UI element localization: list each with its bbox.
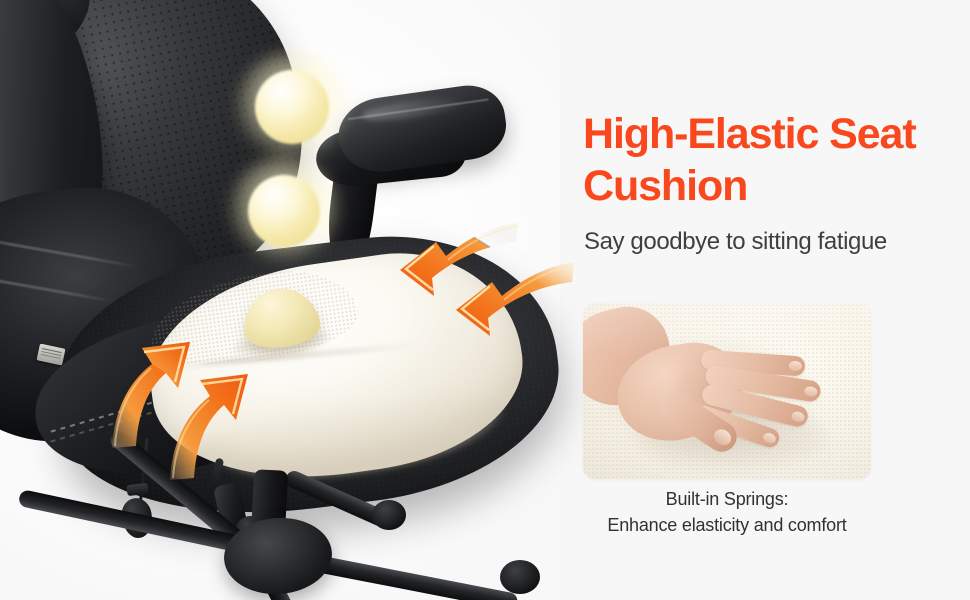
caster-wheel-1 <box>500 560 540 594</box>
subtitle: Say goodbye to sitting fatigue <box>584 228 968 256</box>
product-banner: High-Elastic Seat Cushion Say goodbye to… <box>0 0 970 600</box>
arrow-down-right-lower <box>428 256 578 366</box>
headline: High-Elastic Seat Cushion <box>583 108 967 213</box>
foam-demo-photo <box>583 303 871 479</box>
caster-wheel-2 <box>372 500 406 530</box>
headline-line-1: High-Elastic Seat <box>583 110 916 158</box>
chair-image <box>0 0 580 600</box>
text-panel: High-Elastic Seat Cushion Say goodbye to… <box>580 0 970 600</box>
photo-vignette <box>583 303 871 479</box>
arrow-up-left-inner <box>166 368 296 488</box>
spring-sphere-lower <box>248 175 320 247</box>
chair-armrest <box>334 81 511 178</box>
caption-line-2: Enhance elasticity and comfort <box>583 513 871 539</box>
bolster-highlight <box>0 14 10 229</box>
spring-sphere-upper <box>255 70 329 144</box>
inset-caption: Built-in Springs: Enhance elasticity and… <box>583 487 871 538</box>
lumbar-seam-secondary <box>0 271 116 303</box>
lumbar-seam <box>0 233 142 269</box>
headline-line-2: Cushion <box>583 162 747 210</box>
tilt-lever-cap <box>126 483 148 496</box>
caption-line-1: Built-in Springs: <box>583 487 871 513</box>
